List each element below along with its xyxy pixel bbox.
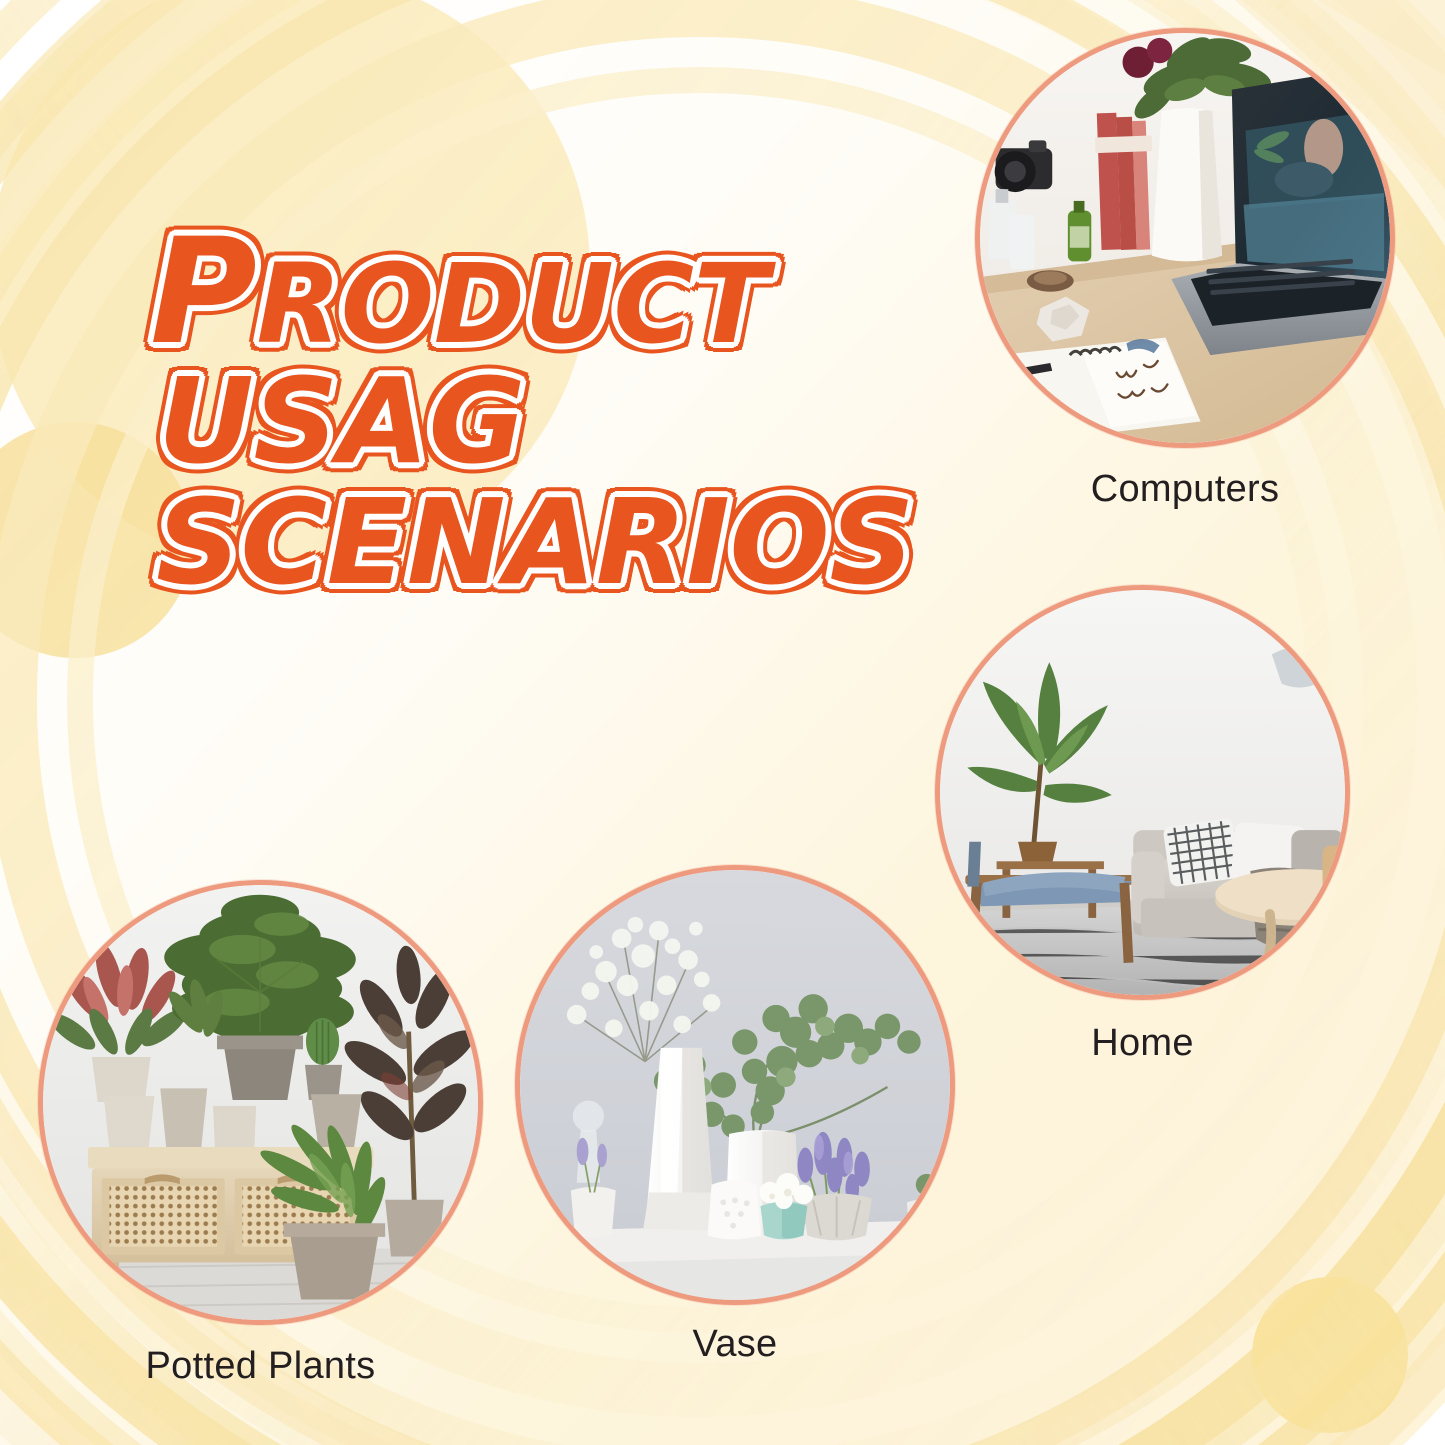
living-room-photo (940, 590, 1345, 995)
title-line-product: PRODUCT (150, 225, 910, 359)
vase-arrangement-photo (520, 870, 950, 1300)
desk-workspace-photo (980, 33, 1390, 443)
title-line-scenarios: SCENARIOS (156, 488, 910, 597)
title-line-usag: USAG (158, 367, 910, 476)
scenario-card-vase[interactable]: Vase (515, 865, 955, 1366)
scenario-image-home (935, 585, 1350, 1000)
scenario-image-potted-plants (38, 880, 483, 1325)
scenario-label-vase: Vase (515, 1323, 955, 1366)
title-remainder: RODUCT (257, 240, 769, 368)
scenario-image-vase (515, 865, 955, 1305)
scenario-card-computers[interactable]: Computers (975, 28, 1395, 511)
scenario-card-potted-plants[interactable]: Potted Plants (38, 880, 483, 1388)
page-title: PRODUCT USAG SCENARIOS (150, 225, 910, 596)
scenario-label-potted-plants: Potted Plants (38, 1345, 483, 1388)
scenario-label-home: Home (935, 1022, 1350, 1065)
scenario-label-computers: Computers (975, 468, 1395, 511)
infographic-canvas: PRODUCT USAG SCENARIOS (0, 0, 1445, 1445)
scenario-card-home[interactable]: Home (935, 585, 1350, 1065)
scenario-image-computers (975, 28, 1395, 448)
potted-plants-photo (43, 885, 478, 1320)
